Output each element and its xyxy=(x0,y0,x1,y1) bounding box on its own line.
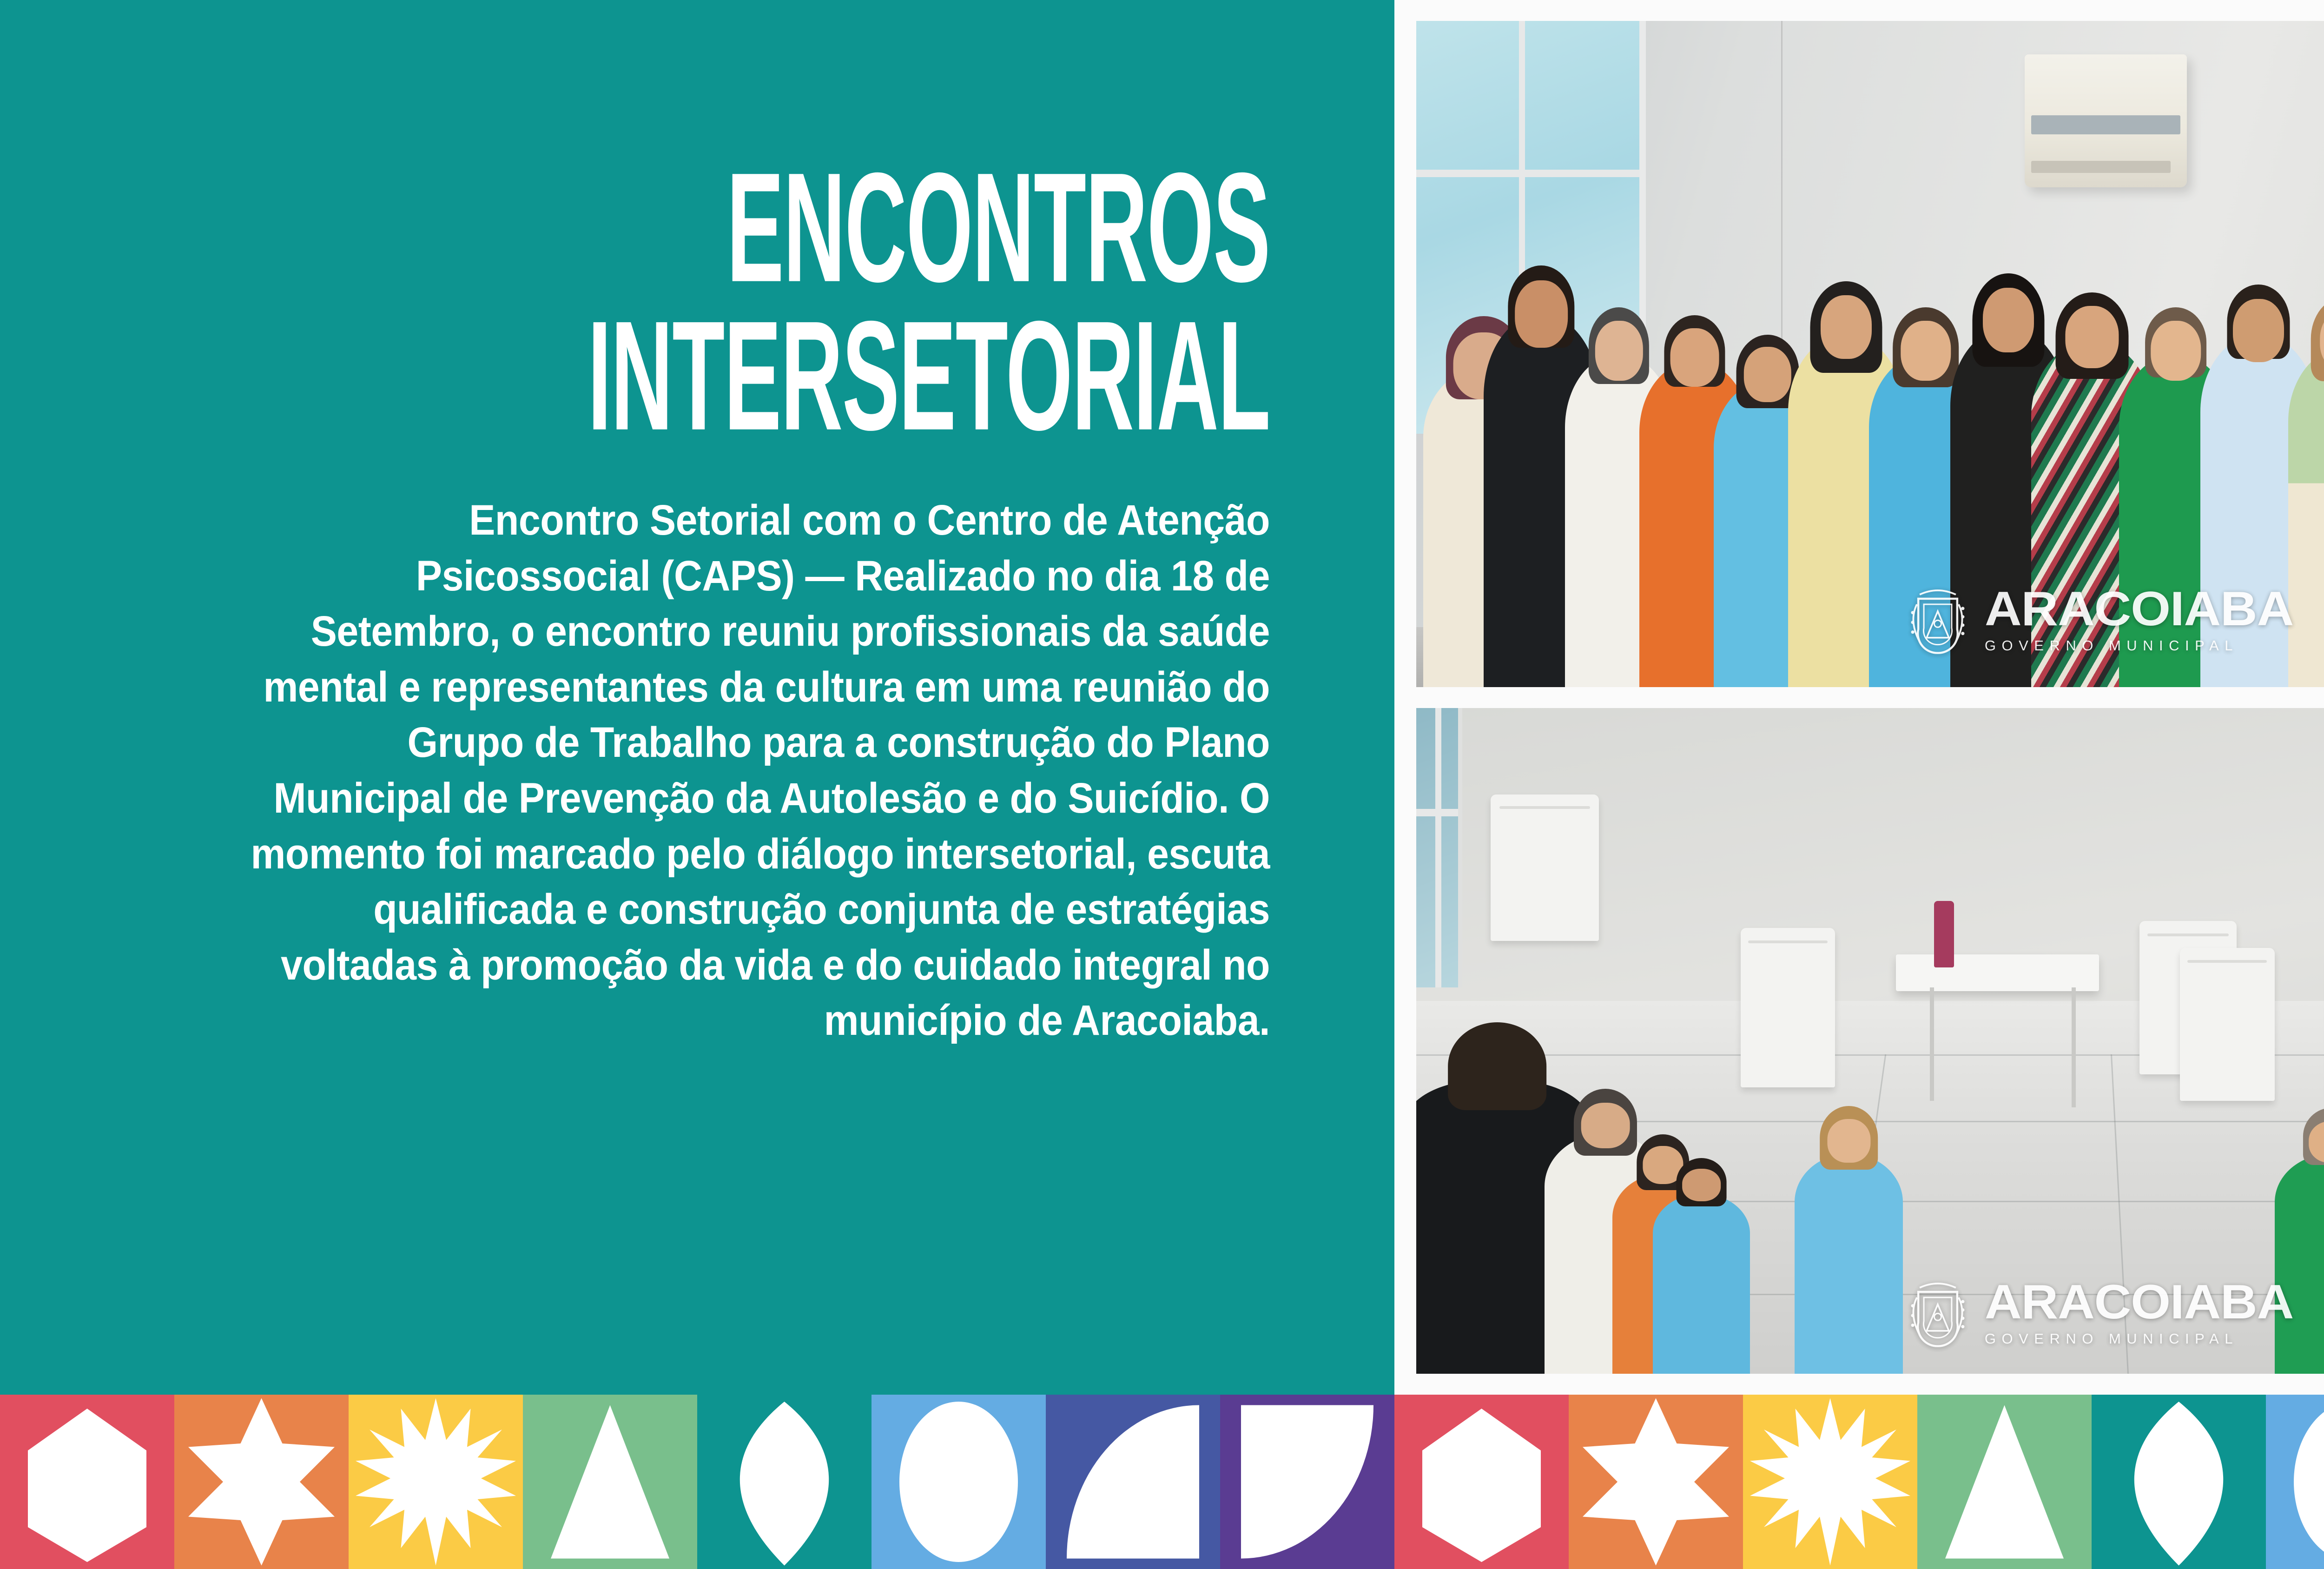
footer-tile-teardrop xyxy=(2092,1395,2266,1569)
air-conditioner-icon xyxy=(2025,54,2187,188)
footer-tile-hexagon xyxy=(0,1395,174,1569)
footer-tile-ellipse xyxy=(2266,1395,2324,1569)
person-figure xyxy=(1795,1154,1903,1374)
footer-tile-quarter-left xyxy=(1046,1395,1220,1569)
triangle-icon xyxy=(1917,1395,2092,1569)
hexagon-icon xyxy=(1394,1395,1569,1569)
head xyxy=(1515,280,1568,347)
desk xyxy=(1896,954,2099,991)
body-paragraph: Encontro Setorial com o Centro de Atençã… xyxy=(228,493,1270,1049)
poster-canvas: ENCONTROS INTERSETORIAL Encontro Setoria… xyxy=(0,0,2324,1569)
quarter-circle-right-icon xyxy=(1220,1395,1394,1569)
person-figure xyxy=(2275,1154,2324,1374)
head xyxy=(2065,306,2119,368)
footer-tile-triangle xyxy=(523,1395,697,1569)
desk-leg xyxy=(2072,987,2076,1107)
footer-tile-hexagon xyxy=(1394,1395,1569,1569)
footer-tile-six-point-star xyxy=(174,1395,349,1569)
window-icon xyxy=(1416,708,1462,987)
starburst-icon xyxy=(1743,1395,1917,1569)
hair xyxy=(1448,1022,1547,1110)
head xyxy=(1581,1103,1630,1148)
head xyxy=(1670,328,1719,387)
head xyxy=(1682,1169,1721,1201)
chair xyxy=(1491,794,1599,941)
footer-tile-teardrop xyxy=(697,1395,871,1569)
footer-tile-triangle xyxy=(1917,1395,2092,1569)
head xyxy=(1744,347,1791,402)
person-figure xyxy=(2288,347,2324,687)
photo-group-portrait: ARACOIABA GOVERNO MUNICIPAL xyxy=(1416,21,2324,687)
starburst-icon xyxy=(349,1395,523,1569)
footer-tile-starburst xyxy=(1743,1395,1917,1569)
triangle-icon xyxy=(523,1395,697,1569)
person-figure xyxy=(1653,1194,1750,1374)
six-point-star-icon xyxy=(1569,1395,1743,1569)
desk-leg xyxy=(1930,987,1934,1100)
six-point-star-icon xyxy=(174,1395,349,1569)
ellipse-icon xyxy=(2266,1395,2324,1569)
footer-tile-starburst xyxy=(349,1395,523,1569)
head xyxy=(2233,299,2284,363)
head xyxy=(1983,288,2034,352)
head xyxy=(1595,321,1643,381)
footer-tile-six-point-star xyxy=(1569,1395,1743,1569)
footer-tile-ellipse xyxy=(871,1395,1046,1569)
head xyxy=(1821,295,1872,359)
left-text-panel: ENCONTROS INTERSETORIAL Encontro Setoria… xyxy=(0,0,1394,1395)
photo-meeting-circle: ARACOIABA GOVERNO MUNICIPAL xyxy=(1416,708,2324,1374)
water-bottle xyxy=(1934,901,1954,967)
head xyxy=(1827,1119,1870,1163)
page-title: ENCONTROS INTERSETORIAL xyxy=(437,153,1270,450)
hexagon-icon xyxy=(0,1395,174,1569)
ellipse-icon xyxy=(871,1395,1046,1569)
chair xyxy=(1741,928,1835,1088)
head xyxy=(1901,321,1951,381)
quarter-circle-left-icon xyxy=(1046,1395,1220,1569)
teardrop-icon xyxy=(697,1395,871,1569)
chair xyxy=(2180,948,2275,1101)
footer-tile-quarter-right xyxy=(1220,1395,1394,1569)
footer-shape-strip xyxy=(0,1395,2324,1569)
teardrop-icon xyxy=(2092,1395,2266,1569)
head xyxy=(2151,321,2201,381)
